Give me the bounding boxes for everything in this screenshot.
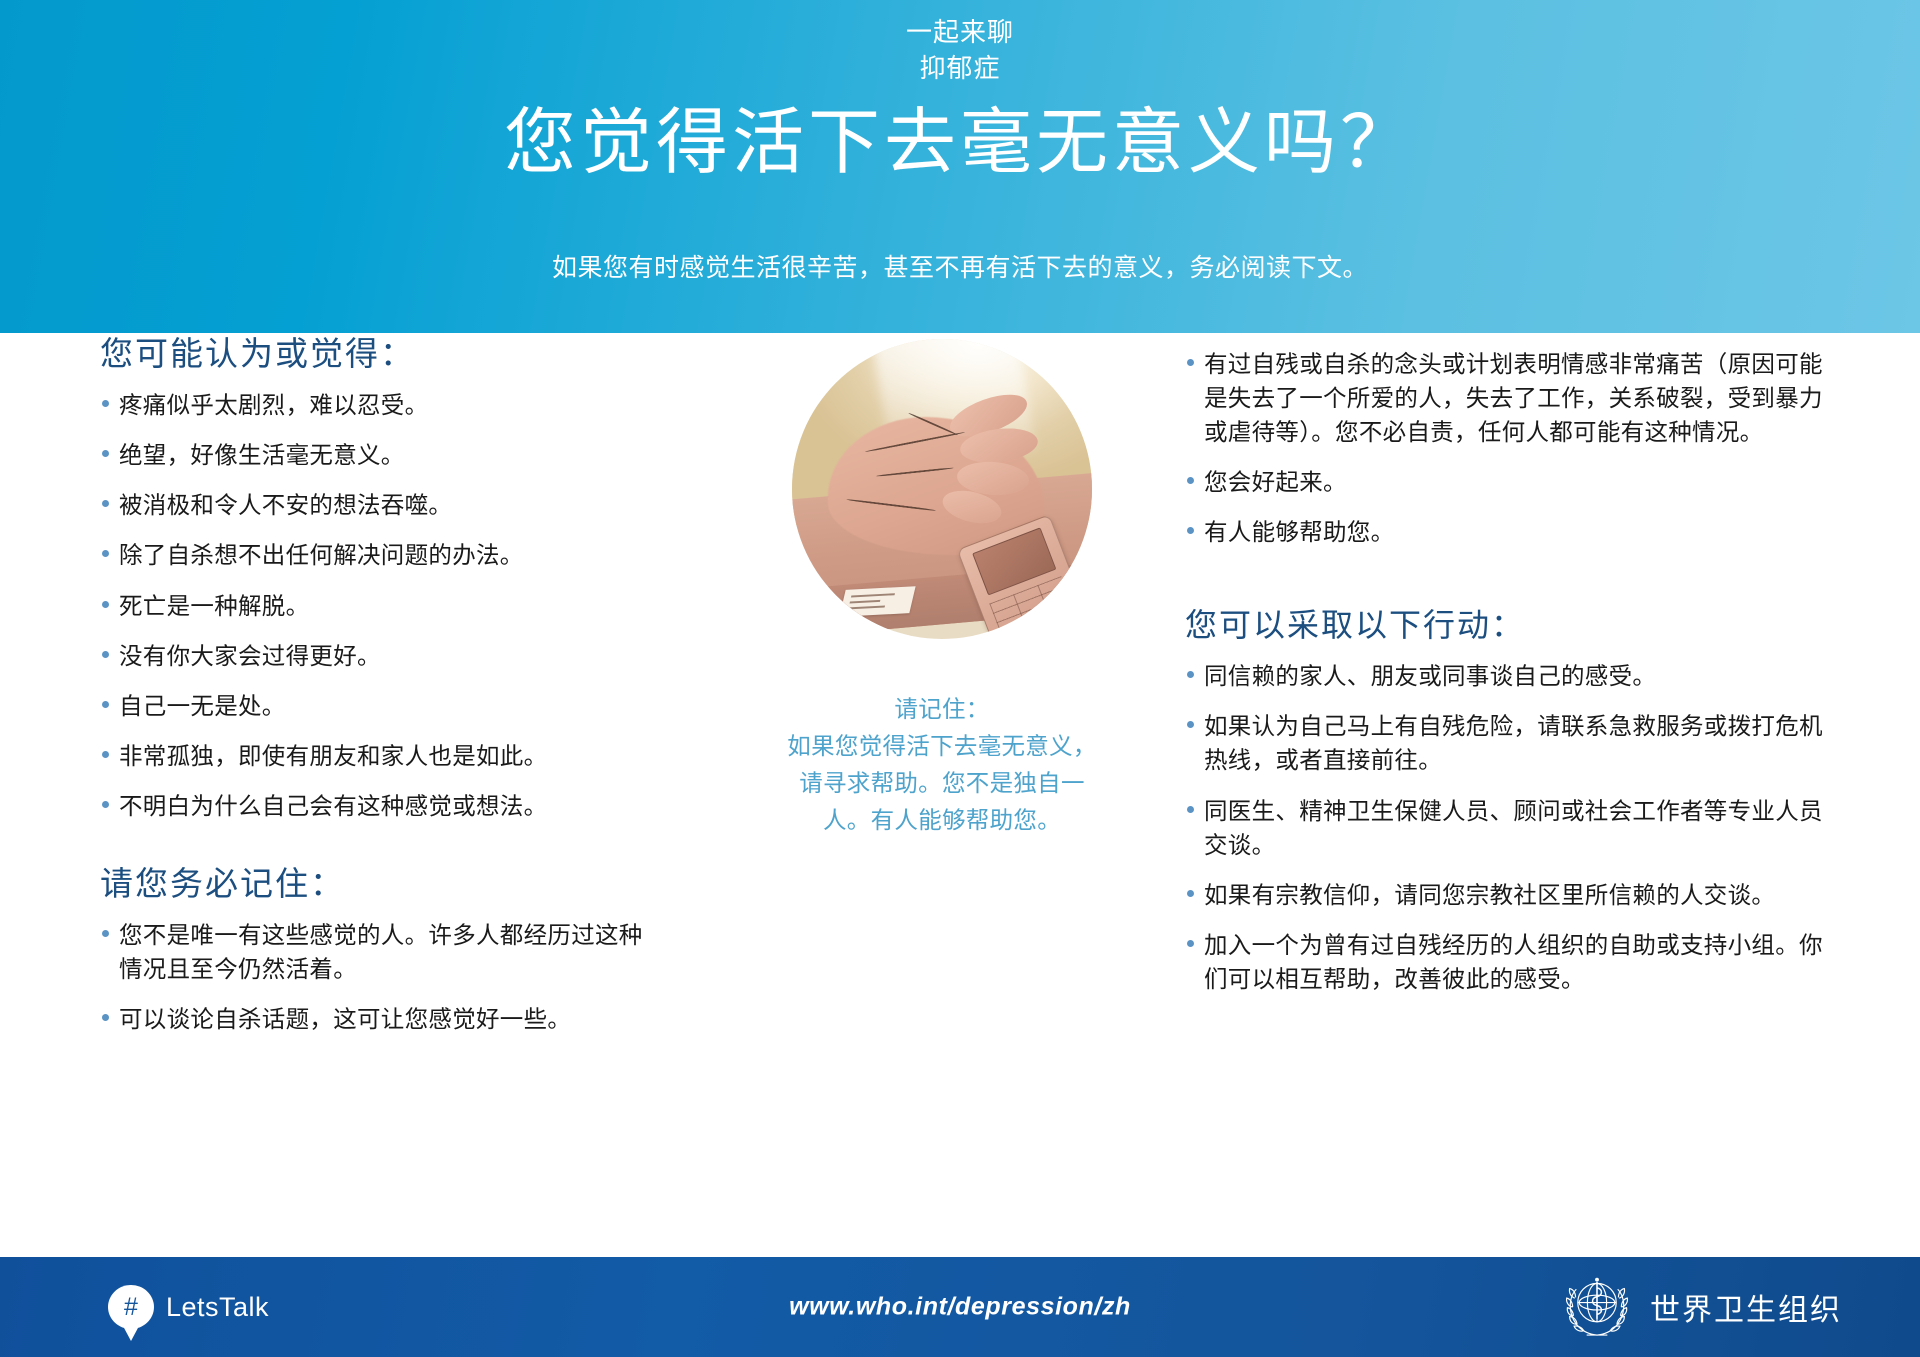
who-organization-name: 世界卫生组织	[1650, 1285, 1842, 1329]
list-item: 同医生、精神卫生保健人员、顾问或社会工作者等专业人员交谈。	[1185, 794, 1825, 862]
right-section-reassurance-list: 有过自残或自杀的念头或计划表明情感非常痛苦（原因可能是失去了一个所爱的人，失去了…	[1185, 347, 1825, 549]
list-item: 非常孤独，即使有朋友和家人也是如此。	[100, 739, 660, 773]
left-section-thoughts: 您可能认为或觉得： 疼痛似乎太剧烈，难以忍受。 绝望，好像生活毫无意义。 被消极…	[100, 333, 660, 823]
poster-body: 您可能认为或觉得： 疼痛似乎太剧烈，难以忍受。 绝望，好像生活毫无意义。 被消极…	[0, 333, 1920, 1257]
list-item: 可以谈论自杀话题，这可让您感觉好一些。	[100, 1002, 660, 1036]
list-item: 有过自残或自杀的念头或计划表明情感非常痛苦（原因可能是失去了一个所爱的人，失去了…	[1185, 347, 1825, 449]
list-item: 您不是唯一有这些感觉的人。许多人都经历过这种情况且至今仍然活着。	[100, 918, 660, 986]
poster-root: 一起来聊 抑郁症 您觉得活下去毫无意义吗？ 如果您有时感觉生活很辛苦，甚至不再有…	[0, 0, 1920, 1357]
right-section-actions-heading: 您可以采取以下行动：	[1185, 605, 1825, 645]
list-item: 加入一个为曾有过自残经历的人组织的自助或支持小组。你们可以相互帮助，改善彼此的感…	[1185, 928, 1825, 996]
list-item: 如果有宗教信仰，请同您宗教社区里所信赖的人交谈。	[1185, 878, 1825, 912]
list-item: 没有你大家会过得更好。	[100, 639, 660, 673]
right-section-actions: 您可以采取以下行动： 同信赖的家人、朋友或同事谈自己的感受。 如果认为自己马上有…	[1185, 605, 1825, 996]
list-item: 同信赖的家人、朋友或同事谈自己的感受。	[1185, 659, 1825, 693]
list-item: 您会好起来。	[1185, 465, 1825, 499]
left-section-thoughts-heading: 您可能认为或觉得：	[100, 333, 660, 374]
center-remember-body: 如果您觉得活下去毫无意义，请寻求帮助。您不是独自一人。有人能够帮助您。	[787, 733, 1096, 833]
sub-headline: 如果您有时感觉生活很辛苦，甚至不再有活下去的意义，务必阅读下文。	[0, 248, 1920, 284]
left-column: 您可能认为或觉得： 疼痛似乎太剧烈，难以忍受。 绝望，好像生活毫无意义。 被消极…	[100, 333, 660, 1052]
list-item: 自己一无是处。	[100, 689, 660, 723]
center-remember-callout: 请记住： 如果您觉得活下去毫无意义，请寻求帮助。您不是独自一人。有人能够帮助您。	[772, 691, 1112, 840]
hand-reaching-for-phone-illustration	[792, 339, 1092, 639]
right-column: 有过自残或自杀的念头或计划表明情感非常痛苦（原因可能是失去了一个所爱的人，失去了…	[1185, 333, 1825, 1012]
left-section-remember-list: 您不是唯一有这些感觉的人。许多人都经历过这种情况且至今仍然活着。 可以谈论自杀话…	[100, 918, 660, 1036]
list-item: 死亡是一种解脱。	[100, 589, 660, 623]
campaign-line-2: 抑郁症	[0, 52, 1920, 85]
main-headline: 您觉得活下去毫无意义吗？	[0, 104, 1920, 183]
list-item: 疼痛似乎太剧烈，难以忍受。	[100, 388, 660, 422]
list-item: 有人能够帮助您。	[1185, 515, 1825, 549]
poster-header: 一起来聊 抑郁症 您觉得活下去毫无意义吗？ 如果您有时感觉生活很辛苦，甚至不再有…	[0, 0, 1920, 333]
list-item: 绝望，好像生活毫无意义。	[100, 438, 660, 472]
list-item: 如果认为自己马上有自残危险，请联系急救服务或拨打危机热线，或者直接前往。	[1185, 709, 1825, 777]
center-remember-title: 请记住：	[782, 691, 1102, 728]
who-brand: 世界卫生组织	[1560, 1273, 1842, 1341]
left-section-remember: 请您务必记住： 您不是唯一有这些感觉的人。许多人都经历过这种情况且至今仍然活着。…	[100, 863, 660, 1036]
list-item: 不明白为什么自己会有这种感觉或想法。	[100, 789, 660, 823]
left-section-thoughts-list: 疼痛似乎太剧烈，难以忍受。 绝望，好像生活毫无意义。 被消极和令人不安的想法吞噬…	[100, 388, 660, 823]
list-item: 被消极和令人不安的想法吞噬。	[100, 488, 660, 522]
campaign-line-1: 一起来聊	[0, 16, 1920, 49]
left-section-remember-heading: 请您务必记住：	[100, 863, 660, 904]
illustration-business-card	[839, 586, 915, 617]
poster-footer: # LetsTalk www.who.int/depression/zh	[0, 1257, 1920, 1357]
who-emblem-icon	[1560, 1273, 1634, 1341]
center-column: 请记住： 如果您觉得活下去毫无意义，请寻求帮助。您不是独自一人。有人能够帮助您。	[772, 333, 1112, 840]
list-item: 除了自杀想不出任何解决问题的办法。	[100, 538, 660, 572]
right-section-actions-list: 同信赖的家人、朋友或同事谈自己的感受。 如果认为自己马上有自残危险，请联系急救服…	[1185, 659, 1825, 996]
right-section-reassurance: 有过自残或自杀的念头或计划表明情感非常痛苦（原因可能是失去了一个所爱的人，失去了…	[1185, 347, 1825, 549]
